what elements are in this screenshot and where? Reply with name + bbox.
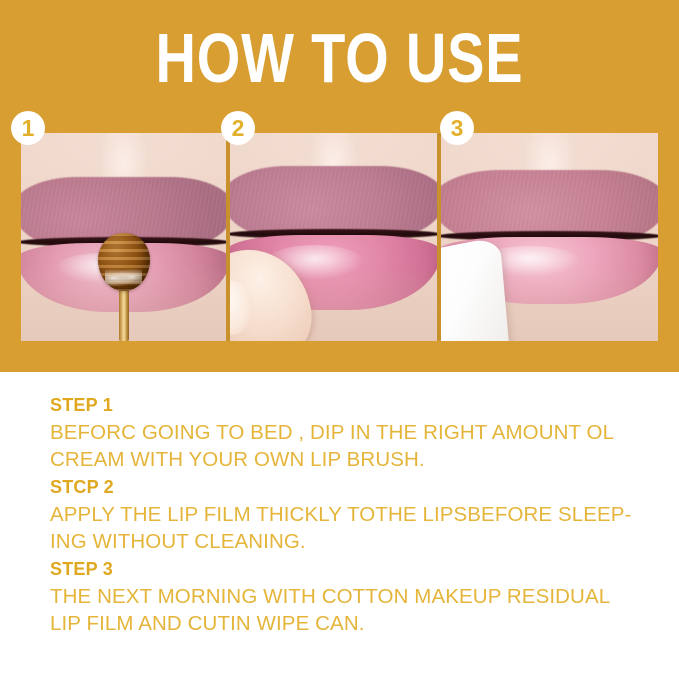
step-badge-2: 2 <box>221 111 255 145</box>
step-2-title: STCP 2 <box>50 474 650 501</box>
step-block-2: STCP 2 APPLY THE LIP FILM THICKLY TOTHE … <box>50 474 650 555</box>
step-1-body: BEFORC GOING TO BED , DIP IN THE RIGHT A… <box>50 419 650 473</box>
step-3-title: STEP 3 <box>50 556 650 583</box>
step-3-body: THE NEXT MORNING WITH COTTON MAKEUP RESI… <box>50 583 650 637</box>
step-badge-3: 3 <box>440 111 474 145</box>
step-2-body: APPLY THE LIP FILM THICKLY TOTHE LIPSBEF… <box>50 501 650 555</box>
photo-strip <box>21 133 658 341</box>
cotton-pad-icon <box>441 237 511 341</box>
steps-section: STEP 1 BEFORC GOING TO BED , DIP IN THE … <box>50 392 650 638</box>
step-badge-1: 1 <box>11 111 45 145</box>
step-1-title: STEP 1 <box>50 392 650 419</box>
how-to-use-infographic: HOW TO USE <box>0 0 679 679</box>
step-photo-1 <box>21 133 226 341</box>
step-photo-2 <box>230 133 437 341</box>
honey-dipper-icon <box>98 233 150 291</box>
step-photo-3 <box>441 133 658 341</box>
step-block-1: STEP 1 BEFORC GOING TO BED , DIP IN THE … <box>50 392 650 473</box>
page-title: HOW TO USE <box>68 22 611 94</box>
step-block-3: STEP 3 THE NEXT MORNING WITH COTTON MAKE… <box>50 556 650 637</box>
upper-lip <box>230 166 437 237</box>
fingernail-icon <box>230 280 253 335</box>
